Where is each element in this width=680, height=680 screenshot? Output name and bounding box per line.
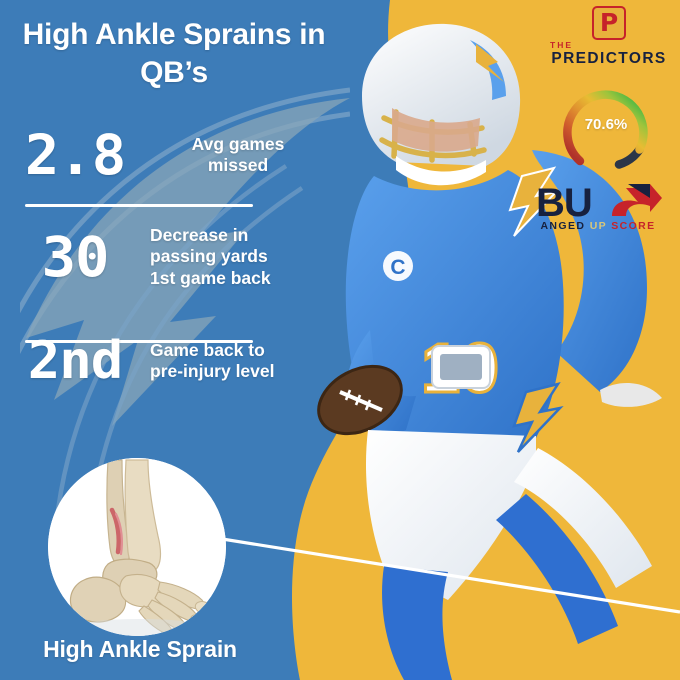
stat-row: 2.8 Avg games missed	[0, 118, 340, 192]
predictors-mark-letter: P	[600, 10, 618, 35]
stat-label-passing-yards: Decrease in passing yards 1st game back	[150, 225, 340, 289]
bus-logo[interactable]: BU ANGED UP SCORE	[530, 176, 666, 242]
predictors-logo[interactable]: P THE PREDICTORS	[546, 6, 672, 67]
svg-text:C: C	[390, 256, 405, 279]
stat-label-line: 1st game back	[150, 268, 340, 289]
stat-value-passing-yards: 30	[0, 230, 153, 285]
bus-tagline-part2: UP	[590, 220, 607, 232]
stat-row: 30 Decrease in passing yards 1st game ba…	[0, 220, 340, 294]
stat-label-line: Game back to	[150, 340, 340, 361]
gauge-value-label: 70.6%	[557, 116, 655, 133]
bus-score-gauge: 70.6%	[557, 78, 655, 176]
stat-divider	[25, 204, 253, 207]
stats-list: 2.8 Avg games missed 30 Decrease in pass…	[0, 118, 340, 340]
bus-wordmark-icon: BU	[530, 176, 666, 226]
predictors-the-text: THE	[546, 41, 672, 50]
page-title: High Ankle Sprains in QB’s	[14, 16, 334, 93]
ankle-bone-illustration-icon	[48, 458, 226, 636]
infographic-canvas: C 10 High Ankle Sprains i	[0, 0, 680, 680]
stat-label-line: passing yards	[150, 246, 340, 267]
svg-text:10: 10	[421, 329, 499, 407]
stat-label-game-back: Game back to pre-injury level	[150, 340, 340, 383]
stat-label-games-missed: Avg games missed	[150, 134, 340, 177]
stat-value-game-back: 2nd	[0, 335, 153, 387]
bus-tagline: ANGED UP SCORE	[530, 220, 666, 232]
svg-text:BU: BU	[536, 181, 592, 225]
stat-label-line: missed	[150, 155, 326, 176]
bus-tagline-part1: ANGED	[540, 220, 585, 232]
ankle-anatomy-image	[48, 458, 226, 636]
stat-row: 2nd Game back to pre-injury level	[0, 324, 340, 398]
predictors-name-text: PREDICTORS	[546, 50, 672, 67]
stat-label-line: Decrease in	[150, 225, 340, 246]
stat-value-games-missed: 2.8	[0, 128, 153, 183]
predictors-p-mark-icon: P	[592, 6, 626, 40]
stat-label-line: pre-injury level	[150, 361, 340, 382]
bus-tagline-part3: SCORE	[611, 220, 655, 232]
anatomy-caption: High Ankle Sprain	[10, 636, 270, 663]
stat-label-line: Avg games	[150, 134, 326, 155]
